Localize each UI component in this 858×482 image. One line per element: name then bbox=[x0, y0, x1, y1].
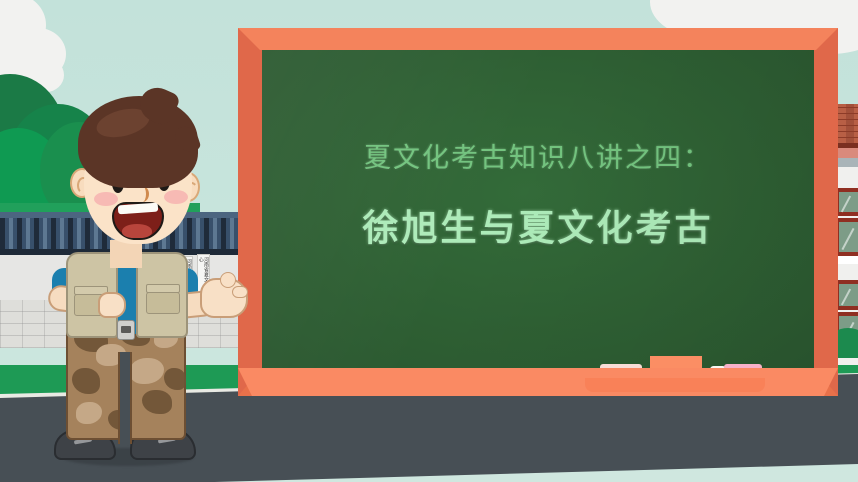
hand-left bbox=[98, 292, 126, 318]
blackboard-title-group: 夏文化考古知识八讲之四： 徐旭生与夏文化考古 bbox=[262, 50, 814, 374]
tongue bbox=[122, 224, 152, 238]
chalk-tray bbox=[585, 378, 765, 392]
lecture-topic-title: 徐旭生与夏文化考古 bbox=[362, 199, 713, 251]
frame-bevel-left bbox=[238, 28, 262, 396]
building-window bbox=[835, 188, 858, 216]
lecture-series-title: 夏文化考古知识八讲之四： bbox=[364, 136, 712, 175]
frame-bevel-top bbox=[238, 28, 838, 50]
cheek-blush-left bbox=[94, 192, 118, 206]
eraser-top-face bbox=[600, 364, 642, 368]
frame-bevel-right bbox=[814, 28, 838, 396]
cheek-blush-right bbox=[164, 190, 188, 204]
vest-pocket bbox=[146, 292, 180, 314]
neck bbox=[110, 240, 142, 268]
pants-inseam bbox=[118, 352, 132, 444]
hand-right-gesturing bbox=[200, 278, 248, 318]
nose bbox=[136, 186, 149, 202]
building-window bbox=[835, 218, 858, 256]
slide-canvas: 河南省文物局 河南省夏文化研究中心 夏文化考古知识八讲之四： 徐旭生与夏文化考古 bbox=[0, 0, 858, 482]
belt-buckle-inner bbox=[121, 326, 131, 333]
pink-chalk-top-face bbox=[724, 364, 762, 368]
building-window bbox=[835, 280, 858, 310]
